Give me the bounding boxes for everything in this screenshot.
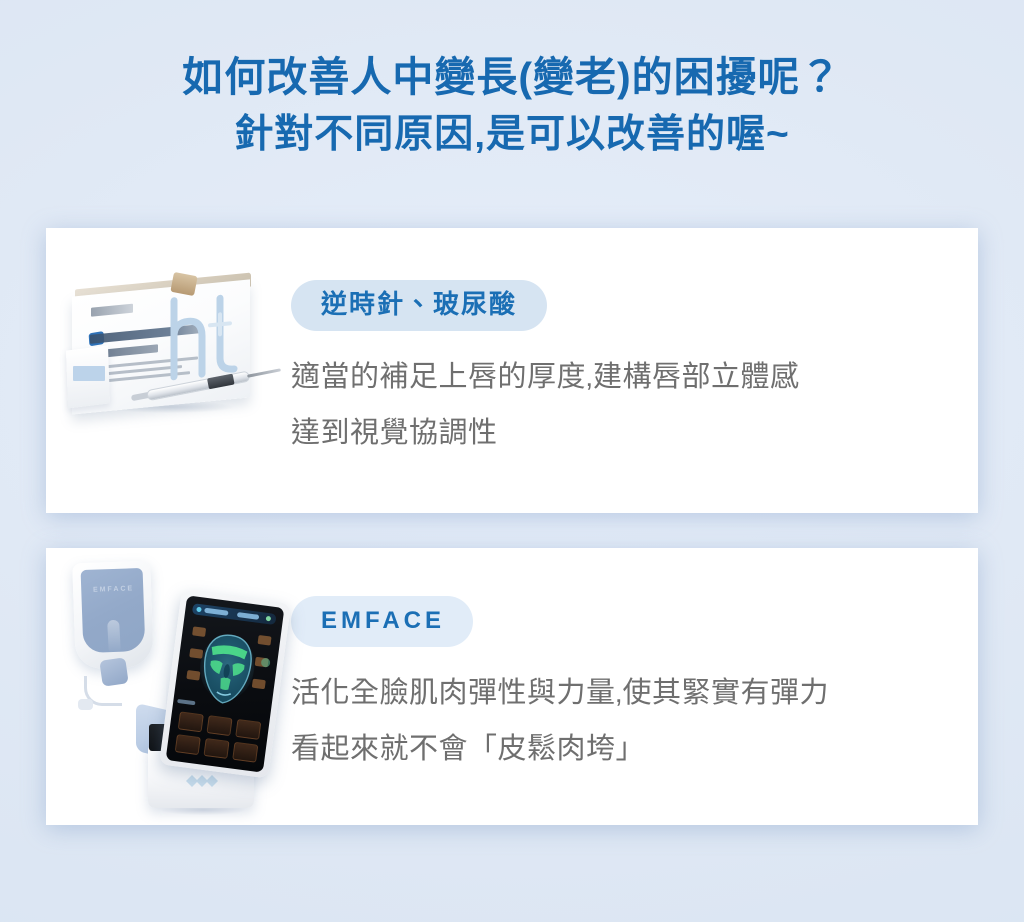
screen-topbar (192, 603, 277, 625)
screen-parameter-chip[interactable] (258, 635, 272, 646)
applicator-brand-label: EMFACE (93, 585, 134, 593)
profhilo-product-box-illustration (62, 274, 277, 434)
applicator-plug (78, 699, 93, 710)
box-manufacturer-mark (91, 304, 133, 317)
screen-parameter-chip[interactable] (186, 670, 200, 681)
screen-grid-button[interactable] (178, 711, 204, 732)
screen-grid-button[interactable] (232, 742, 258, 763)
card-content: EMFACE 活化全臉肌肉彈性與力量‚使其緊實有彈力 看起來就不會「皮鬆肉垮」 (291, 596, 978, 777)
treatment-label-badge: 逆時針、玻尿酸 (291, 280, 547, 331)
emface-machine-illustration: EMFACE (48, 558, 293, 816)
screen-parameter-chip[interactable] (252, 679, 266, 690)
box-side-label (73, 366, 105, 381)
page-title-line-1: 如何改善人中變長(變老)的困擾呢？ (0, 48, 1024, 106)
screen-parameter-chip[interactable] (192, 626, 206, 637)
card-inner: 逆時針、玻尿酸 適當的補足上唇的厚度‚建構唇部立體感 達到視覺協調性 (46, 228, 978, 513)
screen-status-dot-icon (196, 607, 202, 613)
syringe-cap (170, 272, 197, 296)
treatment-label-badge: EMFACE (291, 596, 473, 647)
box-chinese-name (102, 344, 158, 357)
btl-diamond-logo-icon (176, 772, 224, 790)
screen-topbar-tab (237, 612, 259, 620)
screen-topbar-tab (204, 608, 228, 616)
treatment-description: 適當的補足上唇的厚度‚建構唇部立體感 達到視覺協調性 (291, 349, 952, 461)
screen-grid-button[interactable] (175, 734, 201, 755)
card-media-profhilo (46, 228, 291, 513)
screen-side-indicator (261, 658, 271, 668)
screen-grid-button[interactable] (235, 719, 261, 740)
card-inner: EMFACE (46, 548, 978, 825)
screen-parameter-chip[interactable] (189, 648, 203, 659)
page-title-line-2: 針對不同原因‚是可以改善的喔~ (0, 106, 1024, 164)
treatment-description: 活化全臉肌肉彈性與力量‚使其緊實有彈力 看起來就不會「皮鬆肉垮」 (291, 665, 952, 777)
card-content: 逆時針、玻尿酸 適當的補足上唇的厚度‚建構唇部立體感 達到視覺協調性 (291, 280, 978, 461)
treatment-card-emface[interactable]: EMFACE (46, 548, 978, 825)
applicator-groove (107, 620, 121, 655)
page-title: 如何改善人中變長(變老)的困擾呢？ 針對不同原因‚是可以改善的喔~ (0, 48, 1024, 164)
face-treatment-map-icon (193, 630, 260, 711)
infographic-page: 如何改善人中變長(變老)的困擾呢？ 針對不同原因‚是可以改善的喔~ (0, 0, 1024, 922)
treatment-card-hyaluronic-acid[interactable]: 逆時針、玻尿酸 適當的補足上唇的厚度‚建構唇部立體感 達到視覺協調性 (46, 228, 978, 513)
syringe-needle (247, 368, 281, 377)
screen-grid-button[interactable] (203, 738, 229, 759)
card-media-emface: EMFACE (46, 548, 291, 825)
screen-connection-dot-icon (266, 616, 272, 622)
screen-grid-button[interactable] (206, 715, 232, 736)
syringe-label-band (207, 374, 235, 390)
screen-button-grid[interactable] (174, 711, 261, 765)
